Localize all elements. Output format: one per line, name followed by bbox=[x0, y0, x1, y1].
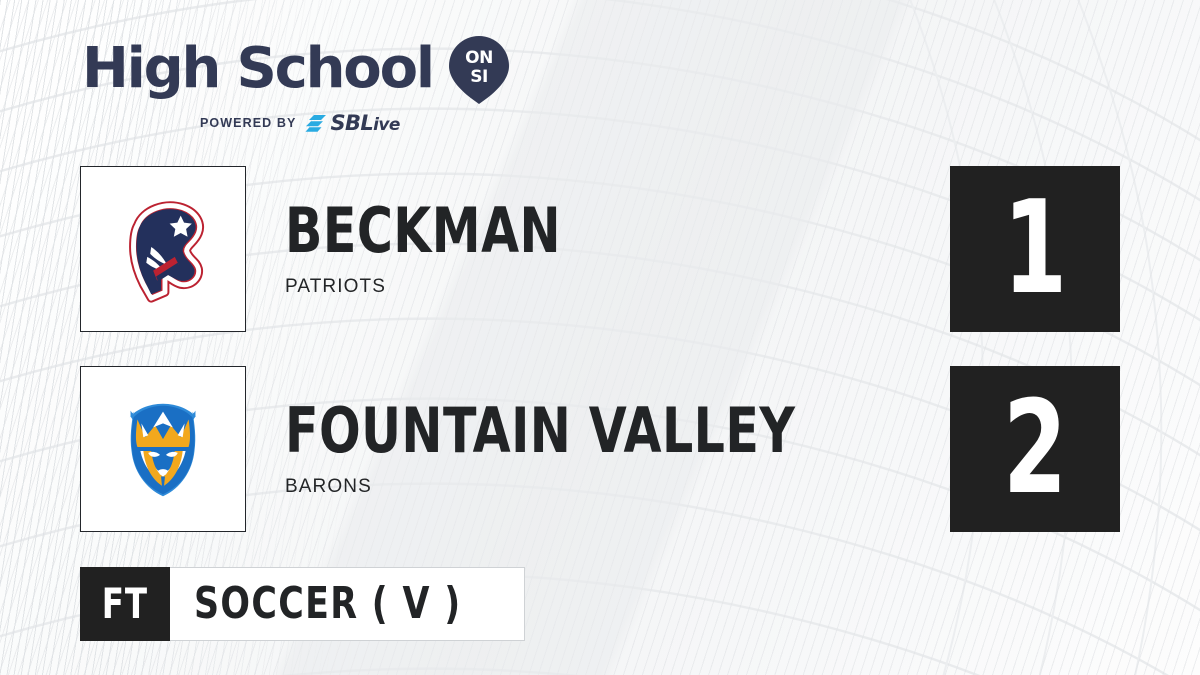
powered-by-label: POWERED BY bbox=[200, 116, 296, 130]
team-logo-box bbox=[80, 166, 246, 332]
sblive-logo: SBLive bbox=[305, 111, 399, 135]
team-score: 2 bbox=[1003, 385, 1067, 513]
team-mascot: BARONS bbox=[285, 476, 865, 498]
sblive-word-upper: SBL bbox=[330, 111, 373, 135]
team-name: BECKMAN bbox=[285, 200, 561, 262]
sport-label: SOCCER ( V ) bbox=[194, 582, 461, 626]
pin-line-two: SI bbox=[470, 67, 488, 87]
brand-title-row: High School ON SI bbox=[82, 34, 512, 104]
team-name-block: BECKMAN PATRIOTS bbox=[285, 166, 599, 332]
brand-header: High School ON SI POWERED BY SBLive bbox=[82, 34, 512, 135]
scoreboard-graphic: High School ON SI POWERED BY SBLive bbox=[0, 0, 1200, 675]
game-status-strip: FT SOCCER ( V ) bbox=[80, 567, 525, 641]
patriot-head-logo-icon bbox=[104, 190, 222, 308]
pin-line-one: ON bbox=[465, 48, 493, 68]
king-head-logo-icon bbox=[104, 390, 222, 508]
sblive-word-lower: ive bbox=[373, 115, 400, 135]
sblive-s-mark-icon bbox=[305, 114, 327, 133]
sport-label-box: SOCCER ( V ) bbox=[170, 567, 525, 641]
team-score-box: 1 bbox=[950, 166, 1120, 332]
status-code-label: FT bbox=[102, 583, 148, 625]
team-score-box: 2 bbox=[950, 366, 1120, 532]
powered-by-row: POWERED BY SBLive bbox=[82, 111, 512, 135]
on-si-pin-icon: ON SI bbox=[447, 34, 511, 104]
team-mascot: PATRIOTS bbox=[285, 276, 599, 298]
team-score: 1 bbox=[1003, 185, 1067, 313]
team-logo-box bbox=[80, 366, 246, 532]
sblive-wordmark: SBLive bbox=[330, 111, 399, 135]
team-name: FOUNTAIN VALLEY bbox=[285, 400, 795, 462]
status-code-badge: FT bbox=[80, 567, 170, 641]
team-name-block: FOUNTAIN VALLEY BARONS bbox=[285, 366, 865, 532]
brand-title: High School bbox=[82, 40, 433, 98]
